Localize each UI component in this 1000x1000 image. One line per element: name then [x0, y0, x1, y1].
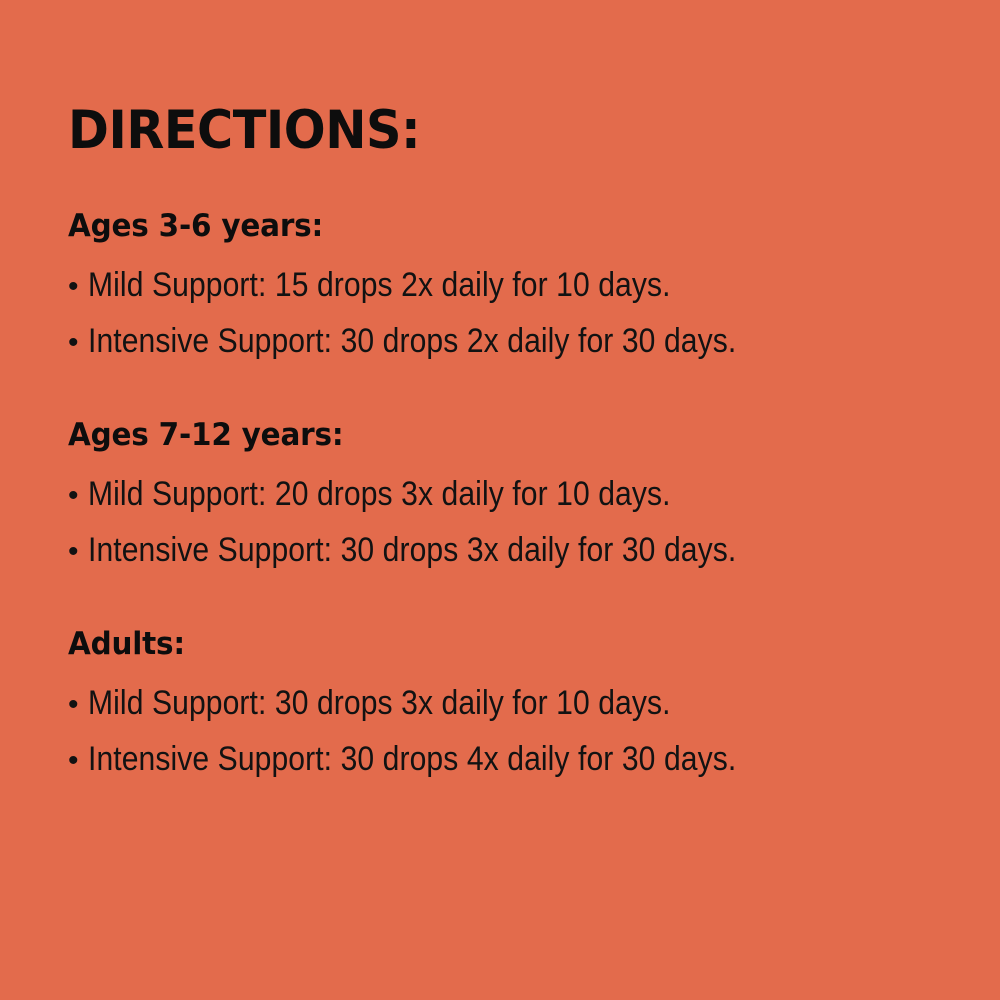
bullet-icon: •: [68, 746, 88, 776]
directions-panel: DIRECTIONS: Ages 3-6 years: • Mild Suppo…: [0, 0, 1000, 1000]
list-item: • Intensive Support: 30 drops 3x daily f…: [68, 533, 960, 567]
bullet-icon: •: [68, 328, 88, 358]
bullet-icon: •: [68, 690, 88, 720]
list-item: • Intensive Support: 30 drops 4x daily f…: [68, 742, 960, 776]
section-heading-ages-3-6: Ages 3-6 years:: [68, 211, 915, 242]
page-title: DIRECTIONS:: [68, 104, 898, 157]
list-item-label: Intensive Support: 30 drops 3x daily for…: [88, 533, 736, 567]
list-item-label: Mild Support: 15 drops 2x daily for 10 d…: [88, 268, 671, 302]
dosage-section: Ages 3-6 years: • Mild Support: 15 drops…: [68, 211, 960, 358]
section-heading-ages-7-12: Ages 7-12 years:: [68, 420, 915, 451]
dosage-list: • Mild Support: 15 drops 2x daily for 10…: [68, 268, 960, 358]
list-item-label: Intensive Support: 30 drops 2x daily for…: [88, 324, 736, 358]
list-item: • Mild Support: 20 drops 3x daily for 10…: [68, 477, 960, 511]
directions-content: DIRECTIONS: Ages 3-6 years: • Mild Suppo…: [68, 104, 960, 776]
bullet-icon: •: [68, 537, 88, 567]
dosage-section: Adults: • Mild Support: 30 drops 3x dail…: [68, 629, 960, 776]
section-heading-adults: Adults:: [68, 629, 915, 660]
list-item-label: Intensive Support: 30 drops 4x daily for…: [88, 742, 736, 776]
dosage-section: Ages 7-12 years: • Mild Support: 20 drop…: [68, 420, 960, 567]
bullet-icon: •: [68, 481, 88, 511]
list-item-label: Mild Support: 20 drops 3x daily for 10 d…: [88, 477, 671, 511]
dosage-list: • Mild Support: 20 drops 3x daily for 10…: [68, 477, 960, 567]
list-item: • Mild Support: 15 drops 2x daily for 10…: [68, 268, 960, 302]
list-item-label: Mild Support: 30 drops 3x daily for 10 d…: [88, 686, 671, 720]
list-item: • Intensive Support: 30 drops 2x daily f…: [68, 324, 960, 358]
list-item: • Mild Support: 30 drops 3x daily for 10…: [68, 686, 960, 720]
dosage-list: • Mild Support: 30 drops 3x daily for 10…: [68, 686, 960, 776]
bullet-icon: •: [68, 272, 88, 302]
